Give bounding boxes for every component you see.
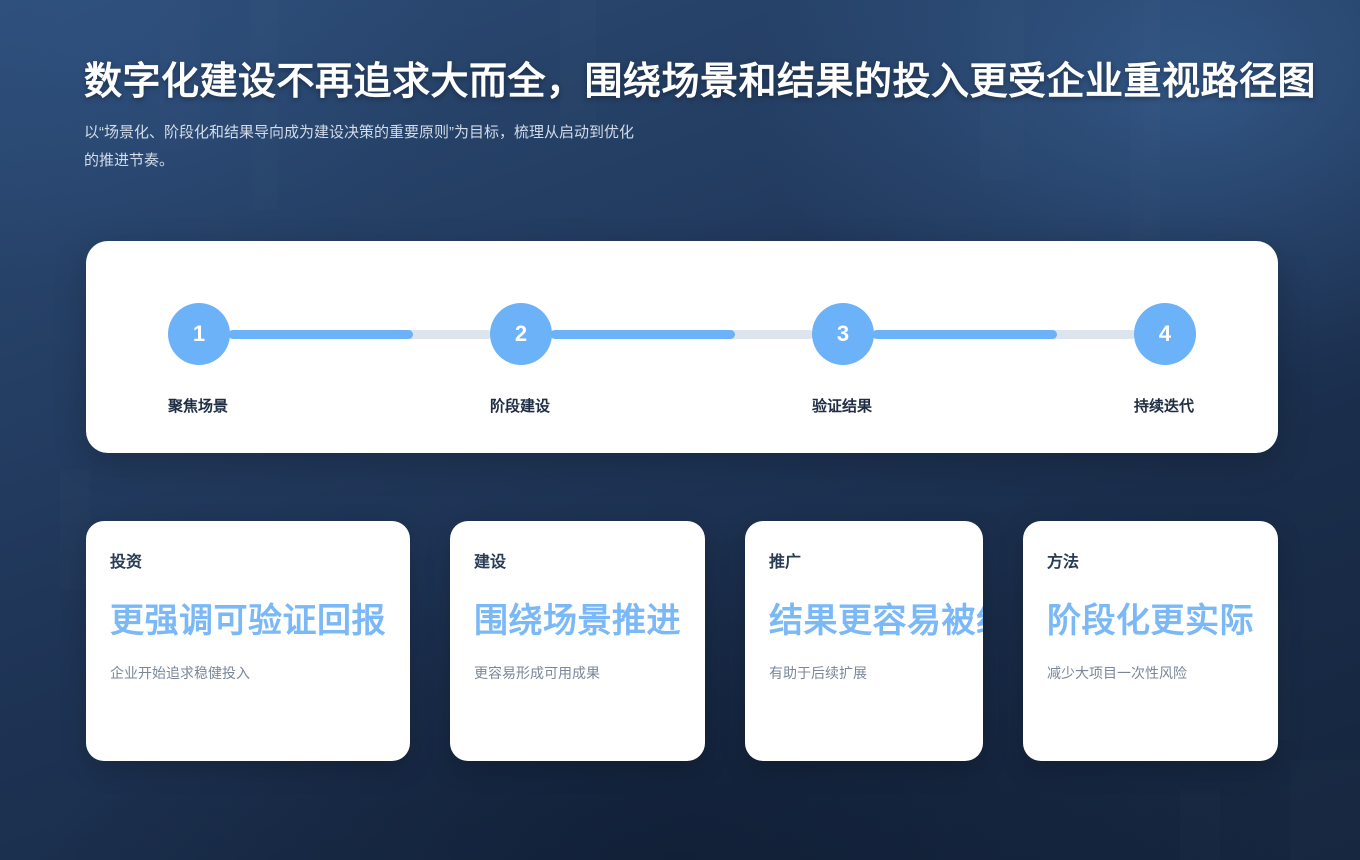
page-subtitle-line-1: 以“场景化、阶段化和结果导向成为建设决策的重要原则”为目标，梳理从启动到优化 [84, 119, 854, 147]
card-note: 更容易形成可用成果 [474, 663, 681, 684]
feature-card-grid: 投资 更强调可验证回报 企业开始追求稳健投入 建设 围绕场景推进 更容易形成可用… [86, 521, 1278, 761]
card-headline: 围绕场景推进 [474, 602, 681, 641]
step-node-2[interactable]: 2 [490, 303, 552, 365]
page-title: 数字化建设不再追求大而全，围绕场景和结果的投入更受企业重视路径图 [84, 60, 1360, 105]
feature-card-promotion[interactable]: 推广 结果更容易被组织接受 有助于后续扩展 [745, 521, 983, 761]
step-connector-3-4 [872, 330, 1136, 339]
step-node-4[interactable]: 4 [1134, 303, 1196, 365]
feature-card-construction[interactable]: 建设 围绕场景推进 更容易形成可用成果 [450, 521, 705, 761]
card-note: 有助于后续扩展 [769, 663, 959, 684]
card-kicker: 建设 [474, 553, 681, 572]
step-label-3: 验证结果 [812, 395, 1134, 416]
page-header: 数字化建设不再追求大而全，围绕场景和结果的投入更受企业重视路径图 以“场景化、阶… [84, 60, 1360, 174]
roadmap-stepper: 1 2 3 4 聚焦场景 阶段建设 验证结果 [168, 303, 1196, 423]
step-connector-2-3 [550, 330, 814, 339]
step-node-3[interactable]: 3 [812, 303, 874, 365]
card-note: 减少大项目一次性风险 [1047, 663, 1254, 684]
stepper-labels: 聚焦场景 阶段建设 验证结果 持续迭代 [168, 395, 1196, 416]
step-connector-fill-3-4 [872, 330, 1057, 339]
card-kicker: 推广 [769, 553, 959, 572]
step-label-4: 持续迭代 [1134, 395, 1196, 416]
step-connector-fill-1-2 [228, 330, 413, 339]
step-number-2: 2 [515, 321, 527, 347]
card-kicker: 投资 [110, 553, 386, 572]
roadmap-stepper-panel: 1 2 3 4 聚焦场景 阶段建设 验证结果 [86, 241, 1278, 453]
step-number-1: 1 [193, 321, 205, 347]
card-headline: 阶段化更实际 [1047, 602, 1254, 641]
step-number-4: 4 [1159, 321, 1171, 347]
card-note: 企业开始追求稳健投入 [110, 663, 386, 684]
feature-card-method[interactable]: 方法 阶段化更实际 减少大项目一次性风险 [1023, 521, 1278, 761]
step-connector-1-2 [228, 330, 492, 339]
card-headline: 结果更容易被组织接受 [769, 602, 959, 641]
step-node-1[interactable]: 1 [168, 303, 230, 365]
page-subtitle: 以“场景化、阶段化和结果导向成为建设决策的重要原则”为目标，梳理从启动到优化 的… [84, 119, 854, 175]
stepper-track: 1 2 3 4 [168, 303, 1196, 365]
page-subtitle-line-2: 的推进节奏。 [84, 147, 854, 175]
card-headline: 更强调可验证回报 [110, 602, 386, 641]
step-label-1: 聚焦场景 [168, 395, 490, 416]
step-number-3: 3 [837, 321, 849, 347]
step-connector-fill-2-3 [550, 330, 735, 339]
feature-card-investment[interactable]: 投资 更强调可验证回报 企业开始追求稳健投入 [86, 521, 410, 761]
step-label-2: 阶段建设 [490, 395, 812, 416]
card-kicker: 方法 [1047, 553, 1254, 572]
